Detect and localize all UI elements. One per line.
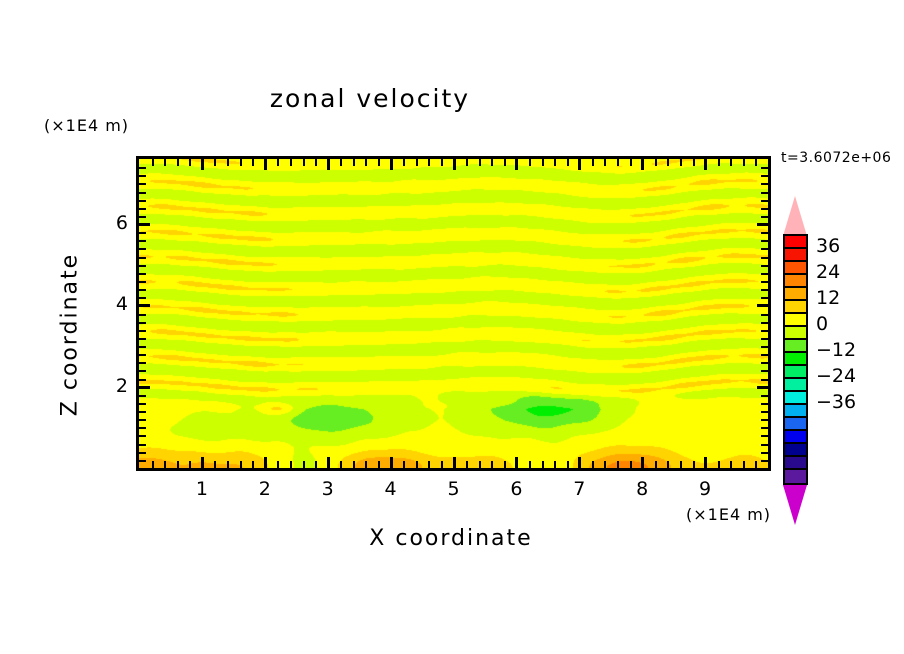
x-tick-minor-top bbox=[416, 159, 418, 166]
x-tick-minor-top bbox=[755, 159, 757, 166]
y-tick-minor bbox=[139, 175, 146, 177]
x-tick-minor-top bbox=[189, 159, 191, 166]
y-axis-unit-label: (×1E4 m) bbox=[44, 116, 129, 135]
y-tick-minor-right bbox=[761, 200, 768, 202]
x-tick-minor-top bbox=[743, 159, 745, 166]
colorbar-band bbox=[785, 262, 806, 275]
x-tick-minor bbox=[177, 461, 179, 468]
x-tick-minor bbox=[428, 461, 430, 468]
x-tick-minor bbox=[227, 461, 229, 468]
y-tick-minor-right bbox=[761, 395, 768, 397]
x-tick-minor bbox=[164, 461, 166, 468]
colorbar-band bbox=[785, 288, 806, 301]
x-tick-minor-top bbox=[504, 159, 506, 166]
y-tick-minor bbox=[139, 265, 146, 267]
y-tick-minor-right bbox=[761, 192, 768, 194]
y-tick-minor-right bbox=[761, 183, 768, 185]
x-tick-major-top bbox=[453, 159, 456, 170]
colorbar-band bbox=[785, 444, 806, 457]
x-tick-minor bbox=[529, 461, 531, 468]
x-tick-minor bbox=[353, 461, 355, 468]
colorbar-tick-label: −24 bbox=[816, 365, 856, 387]
x-tick-minor-top bbox=[718, 159, 720, 166]
x-tick-minor bbox=[152, 461, 154, 468]
x-tick-minor bbox=[542, 461, 544, 468]
x-tick-label: 3 bbox=[308, 478, 348, 500]
y-tick-minor-right bbox=[761, 338, 768, 340]
x-tick-minor bbox=[303, 461, 305, 468]
x-tick-minor-top bbox=[693, 159, 695, 166]
x-tick-label: 5 bbox=[434, 478, 474, 500]
x-tick-minor bbox=[743, 461, 745, 468]
colorbar-band bbox=[785, 249, 806, 262]
x-tick-minor bbox=[441, 461, 443, 468]
y-tick-minor-right bbox=[761, 167, 768, 169]
y-tick-minor bbox=[139, 419, 146, 421]
x-tick-label: 8 bbox=[622, 478, 662, 500]
y-tick-minor bbox=[139, 322, 146, 324]
y-tick-minor bbox=[139, 240, 146, 242]
x-tick-minor-top bbox=[554, 159, 556, 166]
y-tick-minor-right bbox=[761, 248, 768, 250]
y-tick-minor-right bbox=[761, 444, 768, 446]
x-tick-minor-top bbox=[303, 159, 305, 166]
y-tick-minor-right bbox=[761, 257, 768, 259]
x-axis-title: X coordinate bbox=[236, 526, 666, 551]
x-tick-minor-top bbox=[479, 159, 481, 166]
y-tick-minor bbox=[139, 435, 146, 437]
contour-field bbox=[139, 159, 768, 468]
y-tick-minor bbox=[139, 354, 146, 356]
x-tick-minor bbox=[340, 461, 342, 468]
y-tick-minor bbox=[139, 411, 146, 413]
x-tick-minor bbox=[479, 461, 481, 468]
colorbar-underflow-cap-bottom bbox=[783, 485, 807, 525]
y-tick-minor bbox=[139, 281, 146, 283]
colorbar-tick-label: 36 bbox=[816, 235, 840, 257]
y-tick-minor bbox=[139, 232, 146, 234]
colorbar-tick-label: −12 bbox=[816, 339, 856, 361]
x-tick-minor-top bbox=[680, 159, 682, 166]
colorbar-tick-label: 0 bbox=[816, 313, 828, 335]
x-tick-minor-top bbox=[214, 159, 216, 166]
colorbar-band bbox=[785, 418, 806, 431]
x-tick-minor bbox=[214, 461, 216, 468]
x-tick-label: 7 bbox=[559, 478, 599, 500]
x-tick-minor bbox=[277, 461, 279, 468]
x-tick-minor-top bbox=[604, 159, 606, 166]
contour-plot-area bbox=[136, 156, 771, 471]
x-tick-minor bbox=[604, 461, 606, 468]
x-tick-minor-top bbox=[617, 159, 619, 166]
x-tick-minor bbox=[680, 461, 682, 468]
y-tick-minor-right bbox=[761, 322, 768, 324]
colorbar-band bbox=[785, 379, 806, 392]
y-tick-minor-right bbox=[761, 240, 768, 242]
x-tick-minor-top bbox=[567, 159, 569, 166]
y-axis-title: Z coordinate bbox=[58, 235, 83, 435]
x-tick-minor bbox=[718, 461, 720, 468]
x-tick-major bbox=[704, 457, 707, 468]
x-tick-minor bbox=[466, 461, 468, 468]
colorbar-band bbox=[785, 353, 806, 366]
y-tick-minor-right bbox=[761, 216, 768, 218]
y-tick-minor bbox=[139, 216, 146, 218]
x-tick-minor bbox=[554, 461, 556, 468]
y-tick-minor-right bbox=[761, 354, 768, 356]
y-tick-minor bbox=[139, 330, 146, 332]
y-tick-minor bbox=[139, 444, 146, 446]
y-tick-minor-right bbox=[761, 297, 768, 299]
x-tick-minor-top bbox=[592, 159, 594, 166]
x-tick-major-top bbox=[515, 159, 518, 170]
x-tick-label: 1 bbox=[182, 478, 222, 500]
x-tick-minor bbox=[491, 461, 493, 468]
colorbar-band bbox=[785, 470, 806, 483]
x-tick-minor-top bbox=[491, 159, 493, 166]
x-tick-minor-top bbox=[428, 159, 430, 166]
x-tick-minor bbox=[252, 461, 254, 468]
colorbar-band bbox=[785, 340, 806, 353]
x-tick-minor-top bbox=[227, 159, 229, 166]
x-tick-minor bbox=[693, 461, 695, 468]
y-tick-minor-right bbox=[761, 265, 768, 267]
x-tick-label: 9 bbox=[685, 478, 725, 500]
y-tick-major bbox=[139, 386, 150, 389]
colorbar-band bbox=[785, 392, 806, 405]
y-tick-minor bbox=[139, 452, 146, 454]
x-tick-label: 6 bbox=[496, 478, 536, 500]
x-tick-major-top bbox=[390, 159, 393, 170]
page-title: zonal velocity bbox=[0, 84, 740, 113]
y-tick-minor-right bbox=[761, 435, 768, 437]
x-tick-major bbox=[201, 457, 204, 468]
y-tick-minor bbox=[139, 192, 146, 194]
y-tick-minor bbox=[139, 183, 146, 185]
colorbar-band bbox=[785, 431, 806, 444]
y-tick-major bbox=[139, 223, 150, 226]
x-tick-major bbox=[390, 457, 393, 468]
colorbar-band bbox=[785, 314, 806, 327]
x-tick-minor bbox=[365, 461, 367, 468]
colorbar-bands bbox=[783, 234, 808, 485]
x-tick-minor bbox=[504, 461, 506, 468]
y-tick-minor bbox=[139, 314, 146, 316]
x-tick-minor-top bbox=[403, 159, 405, 166]
x-tick-minor-top bbox=[365, 159, 367, 166]
x-tick-minor-top bbox=[152, 159, 154, 166]
x-tick-major bbox=[578, 457, 581, 468]
x-tick-minor bbox=[755, 461, 757, 468]
colorbar-band bbox=[785, 366, 806, 379]
y-tick-label: 2 bbox=[88, 375, 128, 397]
y-tick-minor bbox=[139, 200, 146, 202]
x-tick-major-top bbox=[578, 159, 581, 170]
colorbar-band bbox=[785, 301, 806, 314]
y-tick-minor-right bbox=[761, 232, 768, 234]
y-tick-label: 6 bbox=[88, 212, 128, 234]
x-tick-major bbox=[515, 457, 518, 468]
x-tick-major bbox=[641, 457, 644, 468]
colorbar-tick-label: 12 bbox=[816, 287, 840, 309]
y-tick-major bbox=[139, 304, 150, 307]
x-tick-minor-top bbox=[164, 159, 166, 166]
y-tick-minor bbox=[139, 248, 146, 250]
x-tick-minor-top bbox=[378, 159, 380, 166]
y-tick-minor-right bbox=[761, 403, 768, 405]
y-tick-minor bbox=[139, 167, 146, 169]
x-tick-major-top bbox=[264, 159, 267, 170]
colorbar-tick-label: 24 bbox=[816, 261, 840, 283]
x-tick-minor bbox=[189, 461, 191, 468]
y-tick-label: 4 bbox=[88, 293, 128, 315]
y-tick-minor bbox=[139, 370, 146, 372]
y-tick-minor-right bbox=[761, 346, 768, 348]
y-tick-minor-right bbox=[761, 175, 768, 177]
x-tick-minor bbox=[630, 461, 632, 468]
colorbar-band bbox=[785, 275, 806, 288]
x-tick-minor-top bbox=[655, 159, 657, 166]
x-tick-minor bbox=[416, 461, 418, 468]
x-tick-minor-top bbox=[353, 159, 355, 166]
colorbar-band bbox=[785, 236, 806, 249]
x-tick-minor bbox=[315, 461, 317, 468]
x-tick-minor bbox=[378, 461, 380, 468]
colorbar-band bbox=[785, 327, 806, 340]
y-tick-minor-right bbox=[761, 452, 768, 454]
y-tick-minor-right bbox=[761, 370, 768, 372]
x-tick-minor-top bbox=[667, 159, 669, 166]
y-tick-minor bbox=[139, 460, 146, 462]
x-tick-minor bbox=[290, 461, 292, 468]
y-tick-major-right bbox=[757, 386, 768, 389]
colorbar-tick-label: −36 bbox=[816, 391, 856, 413]
x-axis-unit-label: (×1E4 m) bbox=[686, 505, 771, 524]
y-tick-minor bbox=[139, 403, 146, 405]
x-tick-minor-top bbox=[240, 159, 242, 166]
x-tick-minor bbox=[567, 461, 569, 468]
x-tick-minor-top bbox=[277, 159, 279, 166]
x-tick-minor bbox=[592, 461, 594, 468]
x-tick-minor-top bbox=[542, 159, 544, 166]
x-tick-major bbox=[264, 457, 267, 468]
colorbar-band bbox=[785, 457, 806, 470]
y-tick-minor-right bbox=[761, 289, 768, 291]
x-tick-minor bbox=[655, 461, 657, 468]
timestamp-label: t=3.6072e+06 bbox=[781, 150, 891, 166]
x-tick-minor-top bbox=[730, 159, 732, 166]
x-tick-minor-top bbox=[252, 159, 254, 166]
y-tick-minor bbox=[139, 346, 146, 348]
x-tick-minor-top bbox=[529, 159, 531, 166]
y-tick-minor-right bbox=[761, 460, 768, 462]
x-tick-major bbox=[327, 457, 330, 468]
x-tick-label: 4 bbox=[371, 478, 411, 500]
x-tick-minor bbox=[240, 461, 242, 468]
x-tick-minor-top bbox=[340, 159, 342, 166]
x-tick-major-top bbox=[201, 159, 204, 170]
x-tick-major bbox=[453, 457, 456, 468]
x-tick-minor-top bbox=[441, 159, 443, 166]
x-tick-minor-top bbox=[466, 159, 468, 166]
y-tick-minor bbox=[139, 257, 146, 259]
y-tick-minor-right bbox=[761, 362, 768, 364]
x-tick-minor-top bbox=[177, 159, 179, 166]
y-tick-major-right bbox=[757, 304, 768, 307]
y-tick-minor bbox=[139, 289, 146, 291]
y-tick-minor-right bbox=[761, 379, 768, 381]
y-tick-minor bbox=[139, 395, 146, 397]
y-tick-minor-right bbox=[761, 427, 768, 429]
colorbar-overflow-cap-top bbox=[783, 196, 807, 236]
y-tick-minor bbox=[139, 208, 146, 210]
y-tick-minor bbox=[139, 273, 146, 275]
x-tick-label: 2 bbox=[245, 478, 285, 500]
y-tick-minor-right bbox=[761, 273, 768, 275]
y-tick-minor bbox=[139, 379, 146, 381]
y-tick-minor-right bbox=[761, 281, 768, 283]
y-tick-minor bbox=[139, 362, 146, 364]
x-tick-major-top bbox=[641, 159, 644, 170]
y-tick-minor-right bbox=[761, 208, 768, 210]
x-tick-minor-top bbox=[290, 159, 292, 166]
y-tick-minor-right bbox=[761, 411, 768, 413]
x-tick-major-top bbox=[327, 159, 330, 170]
x-tick-minor-top bbox=[630, 159, 632, 166]
x-tick-minor-top bbox=[315, 159, 317, 166]
x-tick-minor bbox=[403, 461, 405, 468]
y-tick-minor bbox=[139, 427, 146, 429]
y-tick-minor-right bbox=[761, 419, 768, 421]
y-tick-minor-right bbox=[761, 330, 768, 332]
y-tick-minor bbox=[139, 297, 146, 299]
y-tick-minor bbox=[139, 338, 146, 340]
x-tick-minor bbox=[617, 461, 619, 468]
y-tick-major-right bbox=[757, 223, 768, 226]
x-tick-minor bbox=[667, 461, 669, 468]
y-tick-minor-right bbox=[761, 314, 768, 316]
colorbar-band bbox=[785, 405, 806, 418]
x-tick-major-top bbox=[704, 159, 707, 170]
x-tick-minor bbox=[730, 461, 732, 468]
